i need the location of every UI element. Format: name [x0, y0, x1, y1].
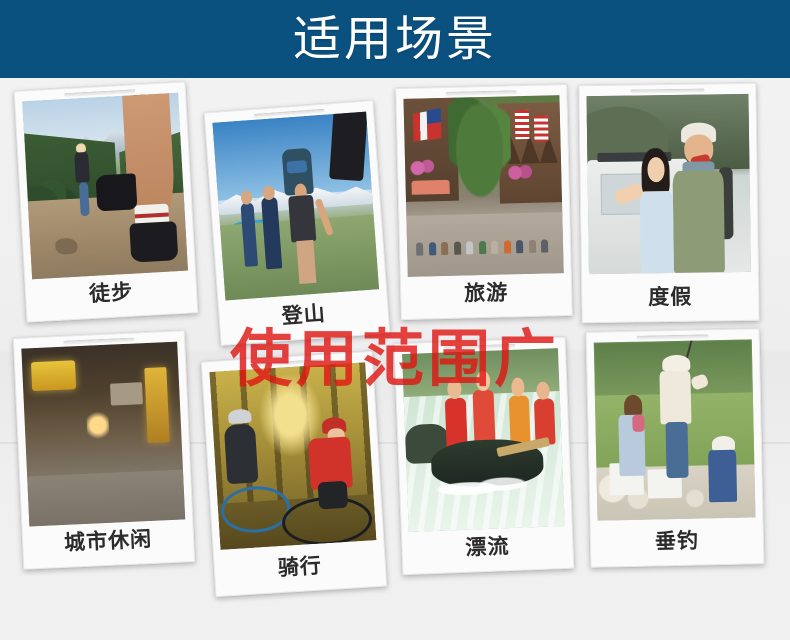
scene-card-vacation[interactable]: 度假	[578, 83, 759, 323]
scene-photo-city-leisure	[21, 342, 185, 527]
scene-photo-fishing	[594, 339, 756, 520]
scene-caption: 漂流	[402, 522, 573, 570]
scene-photo-cycling	[209, 362, 376, 549]
header-banner: 适用场景	[0, 0, 790, 78]
photo-gallery: 徒步 登山	[0, 78, 790, 640]
page-title: 适用场景	[293, 15, 497, 63]
scene-showcase-page: 适用场景 徒步	[0, 0, 790, 640]
scene-card-city-leisure[interactable]: 城市休闲	[13, 330, 195, 570]
scene-photo-mountaineering	[212, 112, 379, 301]
scene-card-rafting[interactable]: 漂流	[394, 337, 575, 575]
polaroid-tab-icon	[630, 88, 704, 93]
scene-caption: 旅游	[401, 269, 572, 315]
polaroid-tab-icon	[637, 334, 709, 340]
scene-caption: 度假	[582, 274, 759, 318]
scene-caption: 城市休闲	[22, 515, 194, 565]
scene-card-cycling[interactable]: 骑行	[201, 351, 387, 597]
scene-card-mountaineering[interactable]: 登山	[204, 100, 391, 346]
scene-caption: 徒步	[25, 266, 197, 317]
scene-card-hiking[interactable]: 徒步	[14, 81, 199, 322]
scene-photo-rafting	[402, 348, 565, 532]
scene-card-tourism[interactable]: 旅游	[395, 84, 573, 320]
polaroid-tab-icon	[446, 90, 517, 96]
scene-caption: 垂钓	[591, 517, 764, 563]
scene-card-fishing[interactable]: 垂钓	[586, 328, 765, 568]
scene-photo-hiking	[22, 93, 188, 279]
scene-photo-vacation	[587, 94, 751, 274]
scene-photo-tourism	[403, 95, 563, 277]
